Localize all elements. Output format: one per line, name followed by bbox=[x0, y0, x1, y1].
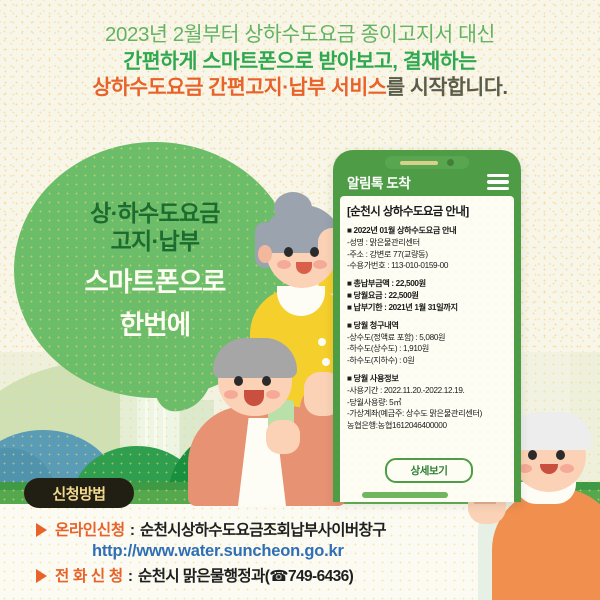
woman-eye bbox=[284, 247, 293, 257]
message-line: -수용가번호 : 113-010-0159-00 bbox=[347, 260, 508, 272]
man-hair bbox=[213, 338, 297, 378]
bubble-line-3: 스마트폰으로 bbox=[85, 266, 226, 298]
elder-cheek bbox=[560, 464, 574, 473]
man-cheek bbox=[224, 390, 238, 399]
bill-line: -상수도(정액료 포함) : 5,080원 bbox=[347, 332, 508, 344]
header-line-3-tail: 를 시작합니다. bbox=[386, 76, 507, 99]
bubble-line-2: 고지·납부 bbox=[111, 227, 200, 255]
usage-line: -당월사용량: 5㎥ bbox=[347, 397, 508, 409]
footer-value-online: 순천시상하수도요금조회납부사이버창구 bbox=[140, 518, 386, 540]
woman-eye bbox=[310, 247, 319, 257]
woman-cheek bbox=[277, 260, 291, 269]
bill-heading: ■ 당월 청구내역 bbox=[347, 320, 508, 332]
poster-root: 2023년 2월부터 상하수도요금 종이고지서 대신 간편하게 스마트폰으로 받… bbox=[0, 0, 600, 600]
triangle-bullet-icon bbox=[36, 569, 47, 583]
bill-line: -하수도(상수도) : 1,910원 bbox=[347, 343, 508, 355]
amount-line: ■ 납부기한 : 2021년 1월 31일까지 bbox=[347, 302, 508, 314]
smartphone-mockup: 알림톡 도착 [순천시 상하수도요금 안내] ■ 2022년 01월 상하수도요… bbox=[333, 150, 521, 502]
detail-view-button[interactable]: 상세보기 bbox=[385, 458, 473, 483]
woman-hair-bun bbox=[274, 192, 312, 224]
amount-line: ■ 총납부금액 : 22,500원 bbox=[347, 278, 508, 290]
elder-eye bbox=[528, 450, 537, 460]
footer-row-online: 온라인신청 : 순천시상하수도요금조회납부사이버창구 bbox=[0, 518, 600, 540]
header-line-2: 간편하게 스마트폰으로 받아보고, 결재하는 bbox=[0, 49, 600, 76]
usage-line: -가상계좌(예금주: 상수도 맑은물관리센터) bbox=[347, 408, 508, 420]
amount-line: ■ 당월요금 : 22,500원 bbox=[347, 290, 508, 302]
man-eye bbox=[262, 376, 271, 386]
footer-separator: : bbox=[130, 522, 135, 540]
website-link[interactable]: http://www.water.suncheon.go.kr bbox=[92, 542, 344, 561]
bubble-line-4: 한번에 bbox=[120, 309, 190, 341]
phone-notch bbox=[385, 156, 469, 169]
bubble-line-1: 상·하수도요금 bbox=[90, 199, 220, 227]
notification-message: [순천시 상하수도요금 안내] ■ 2022년 01월 상하수도요금 안내 -성… bbox=[340, 196, 514, 432]
triangle-bullet-icon bbox=[36, 523, 47, 537]
footer-label-online: 온라인신청 bbox=[55, 518, 125, 540]
man-holding-hand bbox=[266, 420, 300, 454]
how-to-apply-badge: 신청방법 bbox=[24, 478, 134, 508]
woman-button bbox=[322, 358, 330, 366]
bill-line: -하수도(지하수) : 0원 bbox=[347, 355, 508, 367]
message-line: -주소 : 강변로 77(교량동) bbox=[347, 249, 508, 261]
phone-app-title: 알림톡 도착 bbox=[347, 172, 410, 192]
speaker-grill-icon bbox=[400, 161, 438, 165]
footer-value-phone: 순천시 맑은물행정과(☎749-6436) bbox=[138, 564, 353, 586]
elder-eye bbox=[556, 450, 565, 460]
woman-cheek bbox=[313, 260, 327, 269]
footer-separator: : bbox=[128, 568, 133, 586]
message-line: -성명 : 맑은물관리센터 bbox=[347, 237, 508, 249]
hamburger-icon[interactable] bbox=[487, 174, 509, 190]
header-line-3: 상하수도요금 간편고지·납부 서비스를 시작합니다. bbox=[0, 75, 600, 102]
usage-line: 농협은행:농협1612046400000 bbox=[347, 420, 508, 432]
camera-dot-icon bbox=[447, 159, 454, 166]
usage-line: -사용기간 : 2022.11.20.-2022.12.19. bbox=[347, 385, 508, 397]
woman-ear bbox=[258, 245, 272, 263]
footer-label-phone: 전 화 신 청 bbox=[55, 564, 123, 586]
usage-heading: ■ 당월 사용정보 bbox=[347, 373, 508, 385]
header-line-3-highlight: 상하수도요금 간편고지·납부 서비스 bbox=[92, 76, 386, 99]
message-title: [순천시 상하수도요금 안내] bbox=[347, 203, 508, 219]
footer-row-phone: 전 화 신 청 : 순천시 맑은물행정과(☎749-6436) bbox=[0, 564, 600, 586]
header-line-1: 2023년 2월부터 상하수도요금 종이고지서 대신 bbox=[0, 22, 600, 49]
man-cheek bbox=[266, 390, 280, 399]
phone-home-indicator bbox=[362, 492, 448, 498]
footer-row-url: http://www.water.suncheon.go.kr bbox=[0, 542, 600, 561]
message-line: ■ 2022년 01월 상하수도요금 안내 bbox=[347, 225, 508, 237]
header-heading: 2023년 2월부터 상하수도요금 종이고지서 대신 간편하게 스마트폰으로 받… bbox=[0, 22, 600, 102]
phone-screen: [순천시 상하수도요금 안내] ■ 2022년 01월 상하수도요금 안내 -성… bbox=[340, 196, 514, 502]
footer-contact-block: 온라인신청 : 순천시상하수도요금조회납부사이버창구 http://www.wa… bbox=[0, 518, 600, 588]
woman-button bbox=[318, 338, 326, 346]
man-eye bbox=[234, 376, 243, 386]
